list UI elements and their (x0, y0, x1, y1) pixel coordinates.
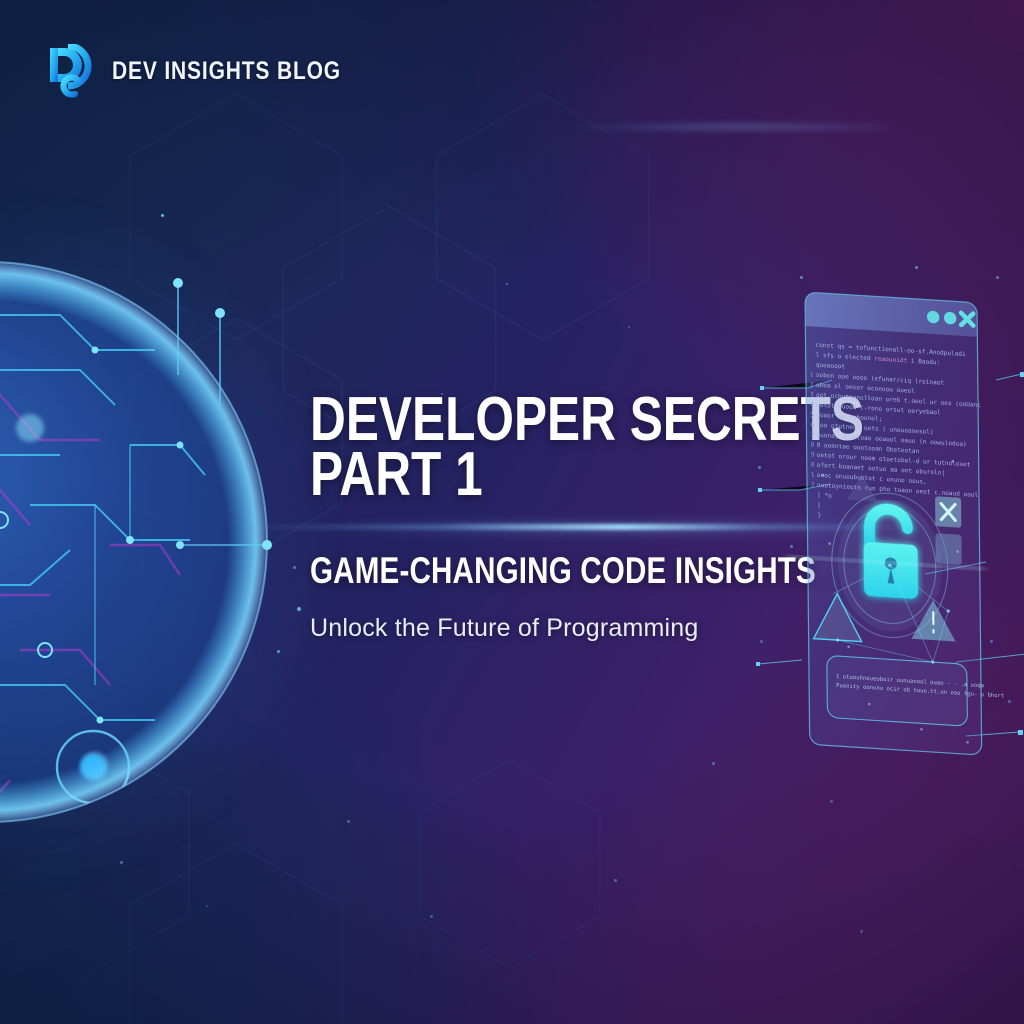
brand-header[interactable]: DEV INSIGHTS BLOG (48, 44, 385, 98)
svg-text:7: 7 (810, 431, 814, 438)
top-light-streak (560, 122, 890, 132)
headline-kicker: GAME-CHANGING CODE INSIGHTS (310, 550, 686, 592)
svg-text:0: 0 (811, 461, 815, 468)
svg-text:1: 1 (811, 471, 815, 478)
circuit-globe: 0 1 0 0 1 1 0 1 1 0 00110 1 0 0 1 1 (0, 255, 275, 830)
headline-block: DEVELOPER SECRETS PART 1 GAME-CHANGING C… (310, 392, 780, 643)
headline-tagline: Unlock the Future of Programming (310, 614, 780, 643)
svg-text:2: 2 (810, 381, 814, 388)
svg-text:3: 3 (810, 391, 814, 398)
svg-text:6: 6 (810, 421, 814, 428)
poster-canvas: 0 1 0 0 1 1 0 1 1 0 00110 1 0 0 1 1 (0, 0, 1024, 1024)
svg-text:4: 4 (810, 401, 814, 408)
svg-text:9: 9 (811, 451, 815, 458)
svg-text:2: 2 (811, 481, 815, 488)
headline-line-1: DEVELOPER SECRETS (310, 392, 686, 447)
svg-text:}: } (817, 512, 821, 519)
d-monogram-logo-icon (48, 44, 96, 98)
headline-line-2: PART 1 (310, 447, 686, 502)
blank-badge (935, 533, 961, 565)
code-window-graphic: const qs = tofunctionall-oo-sf.Anodpolad… (770, 262, 1020, 792)
svg-text:|: | (817, 502, 821, 509)
svg-text:8: 8 (811, 441, 815, 448)
svg-text:5: 5 (810, 411, 814, 418)
svg-text:| *o: | *o (817, 492, 832, 500)
brand-name: DEV INSIGHTS BLOG (112, 57, 341, 86)
svg-text:1: 1 (810, 371, 814, 378)
